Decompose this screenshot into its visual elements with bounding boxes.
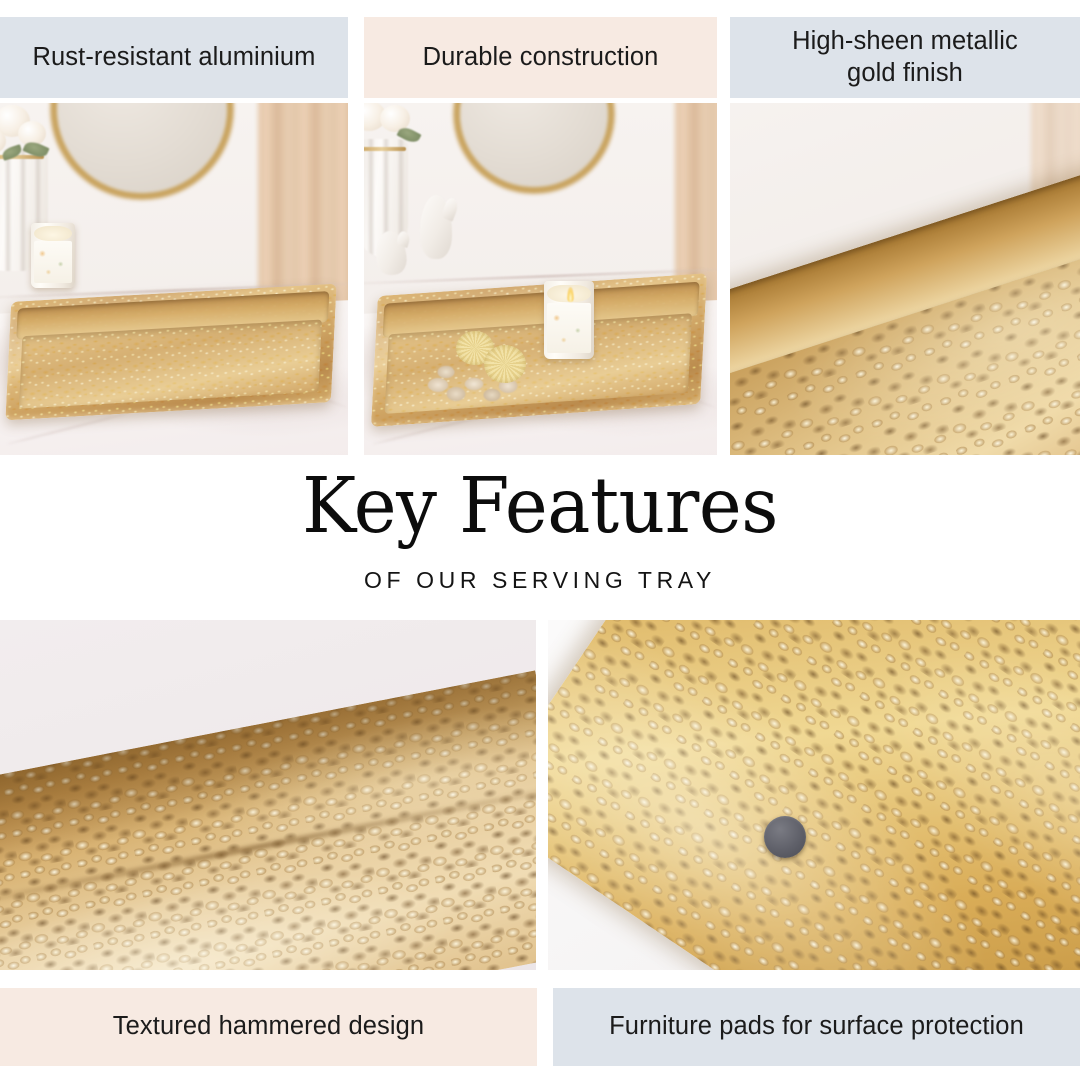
scented-candle <box>31 223 75 288</box>
photo-tray-styled-with-candle <box>364 103 717 455</box>
felt-furniture-pad <box>764 816 806 858</box>
ceramic-bird-figurine <box>420 195 452 259</box>
candle-wax <box>34 226 73 240</box>
vase-gold-ring <box>364 147 406 151</box>
candle-label <box>547 303 591 353</box>
page-subtitle: OF OUR SERVING TRAY <box>0 567 1080 594</box>
photo-furniture-pad-closeup <box>548 620 1080 970</box>
headline-block: Key Features OF OUR SERVING TRAY <box>0 468 1080 594</box>
tray-body <box>5 284 336 421</box>
caption-rust-resistant-aluminium: Rust-resistant aluminium <box>0 17 348 98</box>
candle-flame <box>567 287 574 302</box>
page-title: Key Features <box>32 468 1047 547</box>
caption-durable-construction: Durable construction <box>364 17 717 98</box>
caption-high-sheen-metallic-gold-finish: High-sheen metallic gold finish <box>730 17 1080 98</box>
product-feature-poster: Rust-resistant aluminium Durable constru… <box>0 0 1080 1080</box>
caption-furniture-pads-for-surface-protection: Furniture pads for surface protection <box>553 988 1080 1066</box>
photo-tray-on-table <box>0 103 348 455</box>
candle-label <box>34 241 73 283</box>
photo-hammered-texture-macro <box>0 620 536 970</box>
photo-gold-finish-closeup <box>730 103 1080 455</box>
dried-flower <box>484 345 526 383</box>
caption-textured-hammered-design: Textured hammered design <box>0 988 537 1066</box>
serving-tray <box>5 284 336 421</box>
